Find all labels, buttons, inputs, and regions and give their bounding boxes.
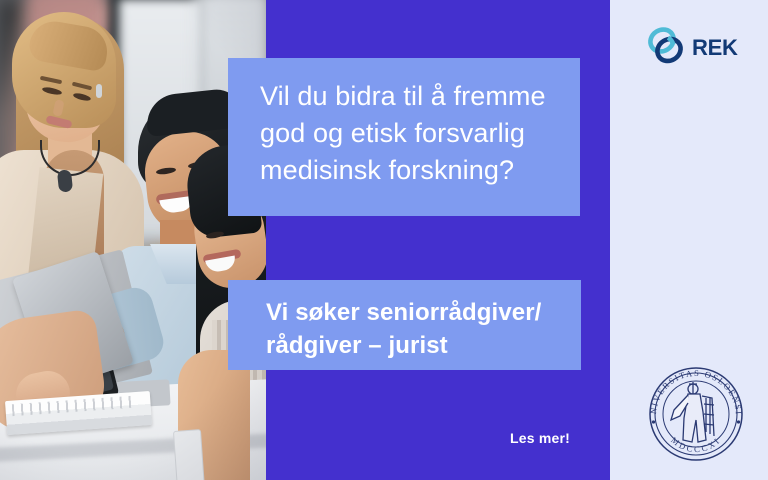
- photo-vignette: [0, 0, 266, 480]
- team-photo: [0, 0, 266, 480]
- uio-seal: UNIVERSITAS OSLOENSIS MDCCCXI: [640, 358, 752, 470]
- headline-line-1: Vil du bidra til å fremme: [260, 78, 554, 115]
- recruitment-banner: Vil du bidra til å fremme god og etisk f…: [0, 0, 768, 480]
- rek-logo[interactable]: REK: [646, 26, 746, 70]
- headline-question-box: Vil du bidra til å fremme god og etisk f…: [228, 58, 580, 216]
- vacancy-line-1: Vi søker seniorrådgiver/: [266, 296, 561, 329]
- read-more-link[interactable]: Les mer!: [400, 430, 570, 450]
- vacancy-line-2: rådgiver – jurist: [266, 329, 561, 362]
- headline-line-2: god og etisk forsvarlig: [260, 115, 554, 152]
- rek-wordmark: REK: [692, 35, 738, 61]
- vacancy-title-box: Vi søker seniorrådgiver/ rådgiver – juri…: [228, 280, 581, 370]
- headline-line-3: medisinsk forskning?: [260, 152, 554, 189]
- seal-bottom-text: MDCCCXI: [669, 435, 723, 454]
- interlocking-rings-icon: [646, 26, 688, 71]
- svg-text:MDCCCXI: MDCCCXI: [669, 435, 723, 454]
